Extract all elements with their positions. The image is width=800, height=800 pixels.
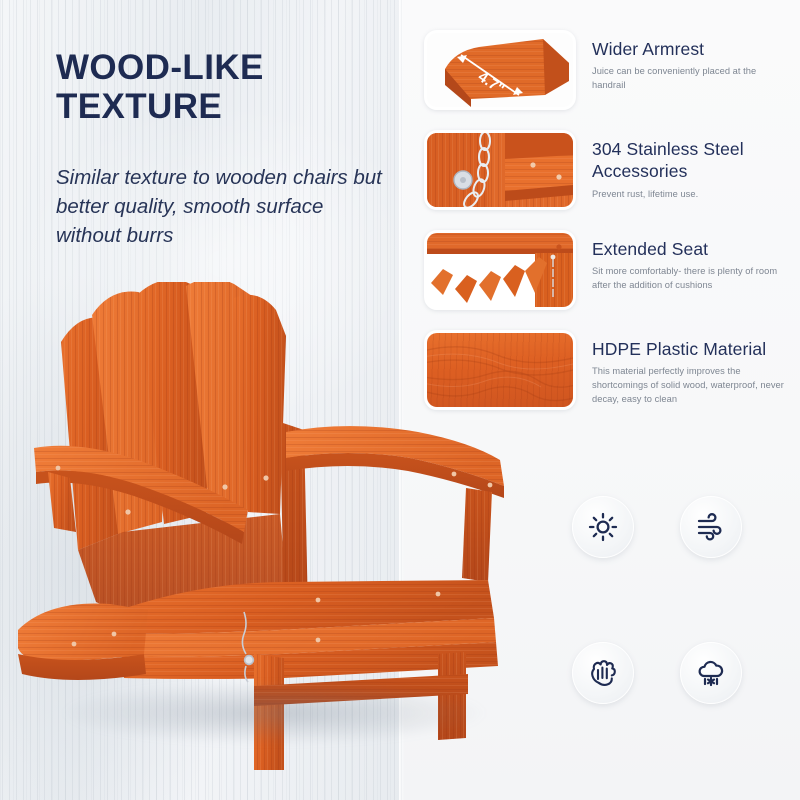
feature-list: 4.7" Wider Armrest Juice can be convenie… — [424, 30, 786, 432]
page-title: WOOD-LIKE TEXTURE — [56, 48, 386, 126]
feature-description: Juice can be conveniently placed at the … — [592, 65, 786, 93]
extended-seat-thumbnail[interactable] — [424, 230, 576, 310]
headline-line-1: WOOD-LIKE — [56, 48, 264, 87]
feature-title: Extended Seat — [592, 238, 786, 260]
wind-resistant-badge[interactable] — [680, 496, 742, 558]
feature-text-block: Extended Seat Sit more comfortably- ther… — [576, 230, 786, 293]
hand-wipe-icon — [587, 657, 619, 689]
extended-seat-thumbnail-art — [427, 233, 573, 307]
chair-armrest-right — [286, 426, 504, 498]
feature-title: HDPE Plastic Material — [592, 338, 786, 360]
weather-resistant-badge[interactable] — [680, 642, 742, 704]
feature-text-block: Wider Armrest Juice can be conveniently … — [576, 30, 786, 93]
headline-subcopy: Similar texture to wooden chairs but bet… — [56, 163, 386, 250]
feature-text-block: 304 Stainless Steel Accessories Prevent … — [576, 130, 786, 202]
chain-thumbnail-art — [427, 133, 573, 207]
feature-item-extended-seat[interactable]: Extended Seat Sit more comfortably- ther… — [424, 230, 786, 330]
feature-title: Wider Armrest — [592, 38, 786, 60]
feature-description: This material perfectly improves the sho… — [592, 365, 786, 406]
property-badge-group — [560, 482, 770, 742]
stainless-chain-thumbnail[interactable] — [424, 130, 576, 210]
wood-grain-swirl — [427, 333, 573, 407]
armrest-dimension-thumbnail[interactable]: 4.7" — [424, 30, 576, 110]
armrest-thumbnail-art: 4.7" — [427, 33, 573, 107]
feature-description: Sit more comfortably- there is plenty of… — [592, 265, 786, 293]
feature-text-block: HDPE Plastic Material This material perf… — [576, 330, 786, 407]
headline-block: WOOD-LIKE TEXTURE — [56, 48, 386, 126]
feature-item-stainless-accessories[interactable]: 304 Stainless Steel Accessories Prevent … — [424, 130, 786, 230]
feature-item-wider-armrest[interactable]: 4.7" Wider Armrest Juice can be convenie… — [424, 30, 786, 130]
hdpe-texture-swatch-thumbnail[interactable] — [424, 330, 576, 410]
chair-arm-support-right — [462, 488, 492, 582]
chair-front-apron — [18, 604, 148, 680]
wind-icon — [695, 511, 727, 543]
feature-description: Prevent rust, lifetime use. — [592, 188, 786, 202]
snow-cloud-icon — [695, 657, 727, 689]
sun-icon — [587, 511, 619, 543]
feature-item-hdpe-material[interactable]: HDPE Plastic Material This material perf… — [424, 330, 786, 432]
chair-drop-shadow — [64, 682, 484, 744]
headline-line-2: TEXTURE — [56, 87, 222, 126]
infographic-canvas: WOOD-LIKE TEXTURE Similar texture to woo… — [0, 0, 800, 800]
easy-clean-badge[interactable] — [572, 642, 634, 704]
feature-title: 304 Stainless Steel Accessories — [592, 138, 786, 183]
uv-resistant-badge[interactable] — [572, 496, 634, 558]
